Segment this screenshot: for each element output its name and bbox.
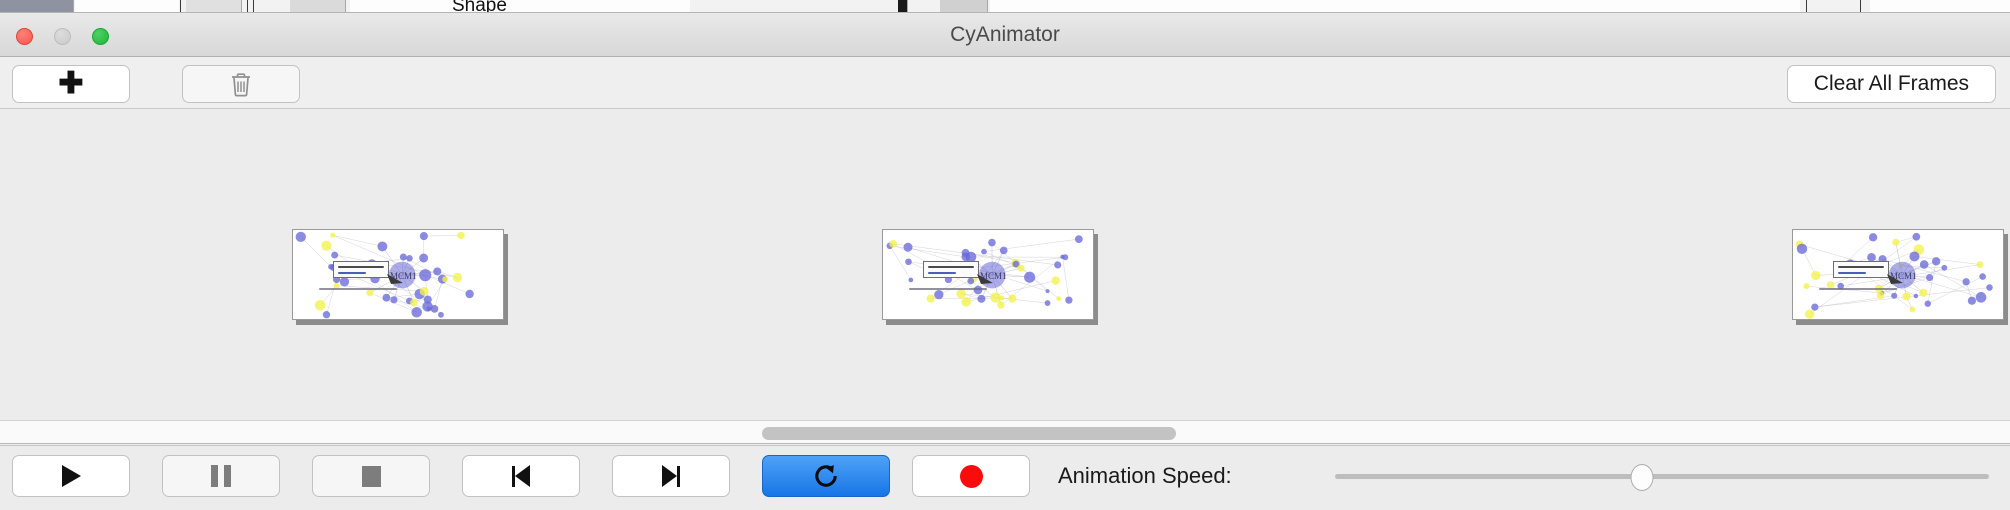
loop-button[interactable] [762,455,890,497]
skip-backward-button[interactable] [462,455,580,497]
bg-divider [180,0,181,13]
callout-pointer [1887,272,1905,286]
stop-button[interactable] [312,455,430,497]
skip-forward-button[interactable] [612,455,730,497]
tooltip-text-line [338,266,384,268]
node-tooltip-callout [1833,261,1889,278]
skip-forward-icon [662,465,680,487]
bg-panel [75,0,179,13]
bg-divider [247,0,248,13]
bg-tab [0,0,74,13]
pause-icon [211,465,231,487]
annotation-text-line [909,288,987,290]
timeline-scrollbar-thumb[interactable] [762,427,1176,440]
loop-icon [812,462,840,490]
bg-shape-label: Shape [452,0,507,13]
keyframe-network-view: MCM1 [882,229,1094,320]
trash-icon [229,71,253,97]
tooltip-text-line [1838,272,1866,274]
add-frame-button[interactable]: ✚ [12,65,130,103]
animation-speed-label: Animation Speed: [1058,455,1232,497]
bg-tab [186,0,242,13]
slider-thumb[interactable] [1631,464,1654,491]
transport-bar: Animation Speed: [0,445,2010,510]
callout-pointer [387,272,405,286]
tooltip-text-line [928,272,956,274]
timeline-panel[interactable]: MCM1MCM1MCM1 2131415161718 Seconds [0,109,2010,420]
tooltip-text-line [928,266,974,268]
play-icon [62,465,81,487]
bg-divider [1806,0,1807,13]
window-title: CyAnimator [0,13,2010,57]
bg-tab [290,0,346,13]
bg-tab [940,0,988,13]
record-icon [960,465,983,488]
tooltip-text-line [1838,266,1884,268]
bg-panel [990,0,1800,13]
slider-track [1335,474,1989,479]
frames-toolbar: ✚ Clear All Frames [0,57,2010,109]
timeline-scrollbar[interactable] [0,420,2010,444]
bg-divider [253,0,254,13]
stop-icon [362,466,381,487]
plus-icon: ✚ [58,69,83,99]
tooltip-text-line [338,272,366,274]
keyframe-thumbnail[interactable]: MCM1 [1792,229,2008,325]
bg-divider [1860,0,1861,13]
node-tooltip-callout [923,261,979,278]
record-button[interactable] [912,455,1030,497]
animation-speed-slider[interactable] [1335,455,1989,497]
node-tooltip-callout [333,261,389,278]
window-titlebar: CyAnimator [0,13,2010,57]
annotation-text-line [319,288,397,290]
callout-pointer [977,272,995,286]
keyframe-thumbnail[interactable]: MCM1 [882,229,1098,325]
delete-frame-button[interactable] [182,65,300,103]
keyframe-network-view: MCM1 [1792,229,2004,320]
pause-button[interactable] [162,455,280,497]
keyframe-thumbnail[interactable]: MCM1 [292,229,508,325]
bg-panel [1870,0,2010,13]
keyframe-network-view: MCM1 [292,229,504,320]
annotation-text-line [1819,288,1897,290]
bg-marker [898,0,908,13]
play-button[interactable] [12,455,130,497]
background-window-strip: Shape [0,0,2010,13]
skip-backward-icon [512,465,530,487]
clear-all-frames-button[interactable]: Clear All Frames [1787,65,1996,103]
bg-panel [350,0,690,13]
